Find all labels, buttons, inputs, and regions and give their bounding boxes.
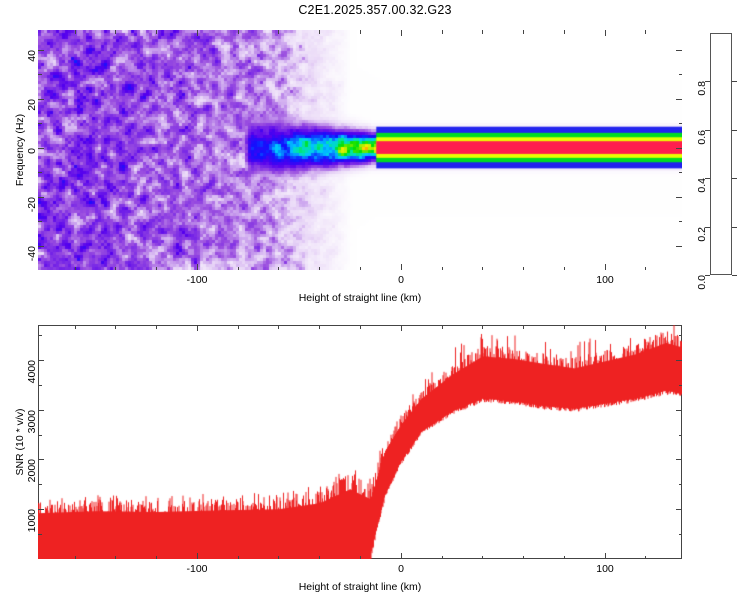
axis-tick-label: 0 [26, 148, 38, 154]
axis-tick [645, 30, 646, 34]
axis-tick [679, 385, 683, 386]
axis-tick [75, 325, 76, 329]
axis-tick [679, 123, 683, 124]
axis-tick [442, 556, 443, 560]
axis-tick [564, 30, 565, 34]
axis-tick-label: -100 [186, 563, 207, 575]
axis-tick [156, 325, 157, 329]
axis-tick-label: -40 [26, 246, 38, 261]
axis-tick [38, 385, 42, 386]
axis-tick [482, 267, 483, 271]
axis-tick [115, 267, 116, 271]
axis-tick [676, 50, 682, 51]
axis-tick [360, 267, 361, 271]
axis-tick [679, 221, 683, 222]
axis-tick [319, 556, 320, 560]
axis-tick [38, 484, 42, 485]
axis-tick [115, 556, 116, 560]
axis-tick [523, 267, 524, 271]
axis-tick [679, 435, 683, 436]
axis-tick [645, 267, 646, 271]
axis-tick [401, 553, 402, 559]
colorbar-gradient [711, 34, 731, 274]
axis-tick [564, 556, 565, 560]
figure-root: C2E1.2025.357.00.32.G23 -1000100-40-2002… [0, 0, 750, 600]
axis-tick [679, 172, 683, 173]
axis-tick [197, 325, 198, 331]
axis-tick [564, 267, 565, 271]
axis-tick [442, 325, 443, 329]
axis-tick [676, 509, 682, 510]
axis-tick [732, 227, 737, 228]
axis-tick [676, 197, 682, 198]
axis-tick-label: -20 [26, 197, 38, 212]
axis-tick [732, 275, 737, 276]
axis-tick [38, 99, 44, 100]
axis-tick [732, 81, 737, 82]
axis-tick [75, 267, 76, 271]
axis-tick [319, 325, 320, 329]
spectrogram-plot-area [38, 30, 682, 270]
axis-tick [278, 325, 279, 329]
axis-tick [38, 509, 44, 510]
axis-tick [360, 556, 361, 560]
snr-trace [38, 325, 682, 559]
axis-tick [523, 556, 524, 560]
axis-tick [401, 264, 402, 270]
axis-tick [75, 556, 76, 560]
axis-tick-label: 40 [26, 50, 38, 62]
figure-title: C2E1.2025.357.00.32.G23 [0, 3, 750, 17]
axis-tick [38, 246, 44, 247]
axis-tick [38, 50, 44, 51]
colorbar-tick-label: 0.4 [696, 178, 708, 193]
axis-tick [401, 30, 402, 36]
axis-tick [238, 325, 239, 329]
axis-tick-label: 1000 [26, 509, 38, 532]
snr-plot-area [38, 325, 682, 559]
spectrogram-x-axis-label: Height of straight line (km) [299, 292, 422, 304]
axis-tick [676, 410, 682, 411]
axis-tick [238, 556, 239, 560]
axis-tick [156, 30, 157, 34]
axis-tick [360, 30, 361, 34]
axis-tick [156, 556, 157, 560]
spectrogram-image [38, 30, 682, 270]
axis-tick [278, 30, 279, 34]
axis-tick [38, 435, 42, 436]
axis-tick [523, 325, 524, 329]
axis-tick [679, 534, 683, 535]
axis-tick-label: 4000 [26, 360, 38, 383]
axis-tick [482, 556, 483, 560]
axis-tick-label: 20 [26, 99, 38, 111]
snr-x-axis-label: Height of straight line (km) [299, 581, 422, 593]
axis-tick [197, 264, 198, 270]
axis-tick [38, 74, 42, 75]
axis-tick [38, 197, 44, 198]
axis-tick [360, 325, 361, 329]
axis-tick [732, 130, 737, 131]
axis-tick [679, 335, 683, 336]
axis-tick [75, 30, 76, 34]
axis-tick [319, 267, 320, 271]
axis-tick [38, 335, 42, 336]
axis-tick [197, 30, 198, 36]
axis-tick [679, 484, 683, 485]
axis-tick [238, 30, 239, 34]
axis-tick [238, 267, 239, 271]
axis-tick [676, 148, 682, 149]
axis-tick [38, 123, 42, 124]
axis-tick [676, 246, 682, 247]
axis-tick [676, 99, 682, 100]
colorbar-tick-label: 0.0 [696, 275, 708, 290]
axis-tick [278, 556, 279, 560]
axis-tick [319, 30, 320, 34]
axis-tick [482, 325, 483, 329]
axis-tick-label: -100 [186, 274, 207, 286]
axis-tick [197, 553, 198, 559]
axis-tick-label: 0 [398, 274, 404, 286]
axis-tick [38, 148, 44, 149]
axis-tick-label: 3000 [26, 410, 38, 433]
axis-tick [38, 459, 44, 460]
axis-tick-label: 2000 [26, 459, 38, 482]
colorbar-tick-label: 0.8 [696, 81, 708, 96]
axis-tick [442, 30, 443, 34]
axis-tick [679, 74, 683, 75]
axis-tick [38, 221, 42, 222]
axis-tick [605, 553, 606, 559]
axis-tick [732, 178, 737, 179]
axis-tick [401, 325, 402, 331]
axis-tick [38, 360, 44, 361]
axis-tick [645, 556, 646, 560]
spectrogram-y-axis-label: Frequency (Hz) [14, 114, 26, 186]
axis-tick-label: 0 [398, 563, 404, 575]
axis-tick [38, 410, 44, 411]
axis-tick [115, 325, 116, 329]
axis-tick [676, 360, 682, 361]
axis-tick [523, 30, 524, 34]
colorbar-tick-label: 0.2 [696, 227, 708, 242]
axis-tick [605, 264, 606, 270]
axis-tick [156, 267, 157, 271]
axis-tick [645, 325, 646, 329]
colorbar-tick-label: 0.6 [696, 130, 708, 145]
colorbar [710, 33, 732, 275]
axis-tick [564, 325, 565, 329]
axis-tick-label: 100 [596, 274, 614, 286]
axis-tick [278, 267, 279, 271]
snr-y-axis-label: SNR (10 * v/v) [14, 408, 26, 475]
axis-tick [605, 325, 606, 331]
axis-tick [115, 30, 116, 34]
axis-tick [38, 172, 42, 173]
axis-tick [605, 30, 606, 36]
axis-tick [442, 267, 443, 271]
axis-tick-label: 100 [596, 563, 614, 575]
axis-tick [482, 30, 483, 34]
axis-tick [38, 534, 42, 535]
axis-tick [676, 459, 682, 460]
